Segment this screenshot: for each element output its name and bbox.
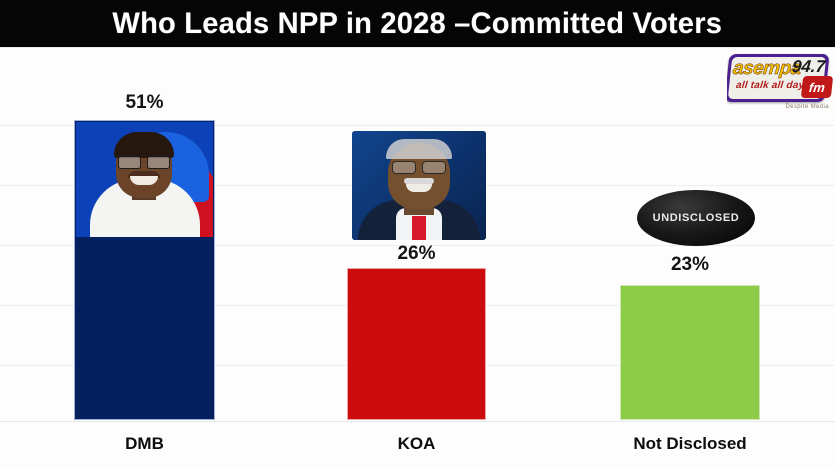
category-label-not-disclosed: Not Disclosed [605,434,775,454]
portrait-dmb [76,122,213,237]
portrait-koa-tie [412,216,426,240]
portrait-koa-glasses [392,161,446,172]
gridline [0,47,835,48]
value-label-not-disclosed: 23% [620,254,760,276]
portrait-koa-hair [386,139,452,159]
station-logo-frequency: 94.7 [791,57,826,77]
portrait-dmb-hair [114,132,174,158]
undisclosed-label: UNDISCLOSED [653,212,740,224]
portrait-koa-smile [406,184,432,192]
bar-not-disclosed [620,285,760,420]
gridline-baseline [0,421,835,422]
poll-chart-screenshot: Who Leads NPP in 2028 –Committed Voters [0,0,835,468]
page-title: Who Leads NPP in 2028 –Committed Voters [113,7,723,41]
value-label-koa: 26% [347,243,486,265]
station-logo-tagline: all talk all day [735,80,804,91]
category-label-dmb: DMB [74,434,215,454]
value-label-dmb: 51% [74,92,215,114]
title-banner: Who Leads NPP in 2028 –Committed Voters [0,0,835,47]
station-logo-subtext: Despite Media [785,104,829,110]
undisclosed-ellipse: UNDISCLOSED [637,190,755,246]
station-logo-band: fm [801,76,833,98]
bar-koa [347,268,486,420]
station-logo: asempa 94.7 all talk all day fm Despite … [727,52,833,110]
portrait-dmb-glasses [118,156,170,167]
category-label-koa: KOA [347,434,486,454]
portrait-koa [352,131,486,240]
